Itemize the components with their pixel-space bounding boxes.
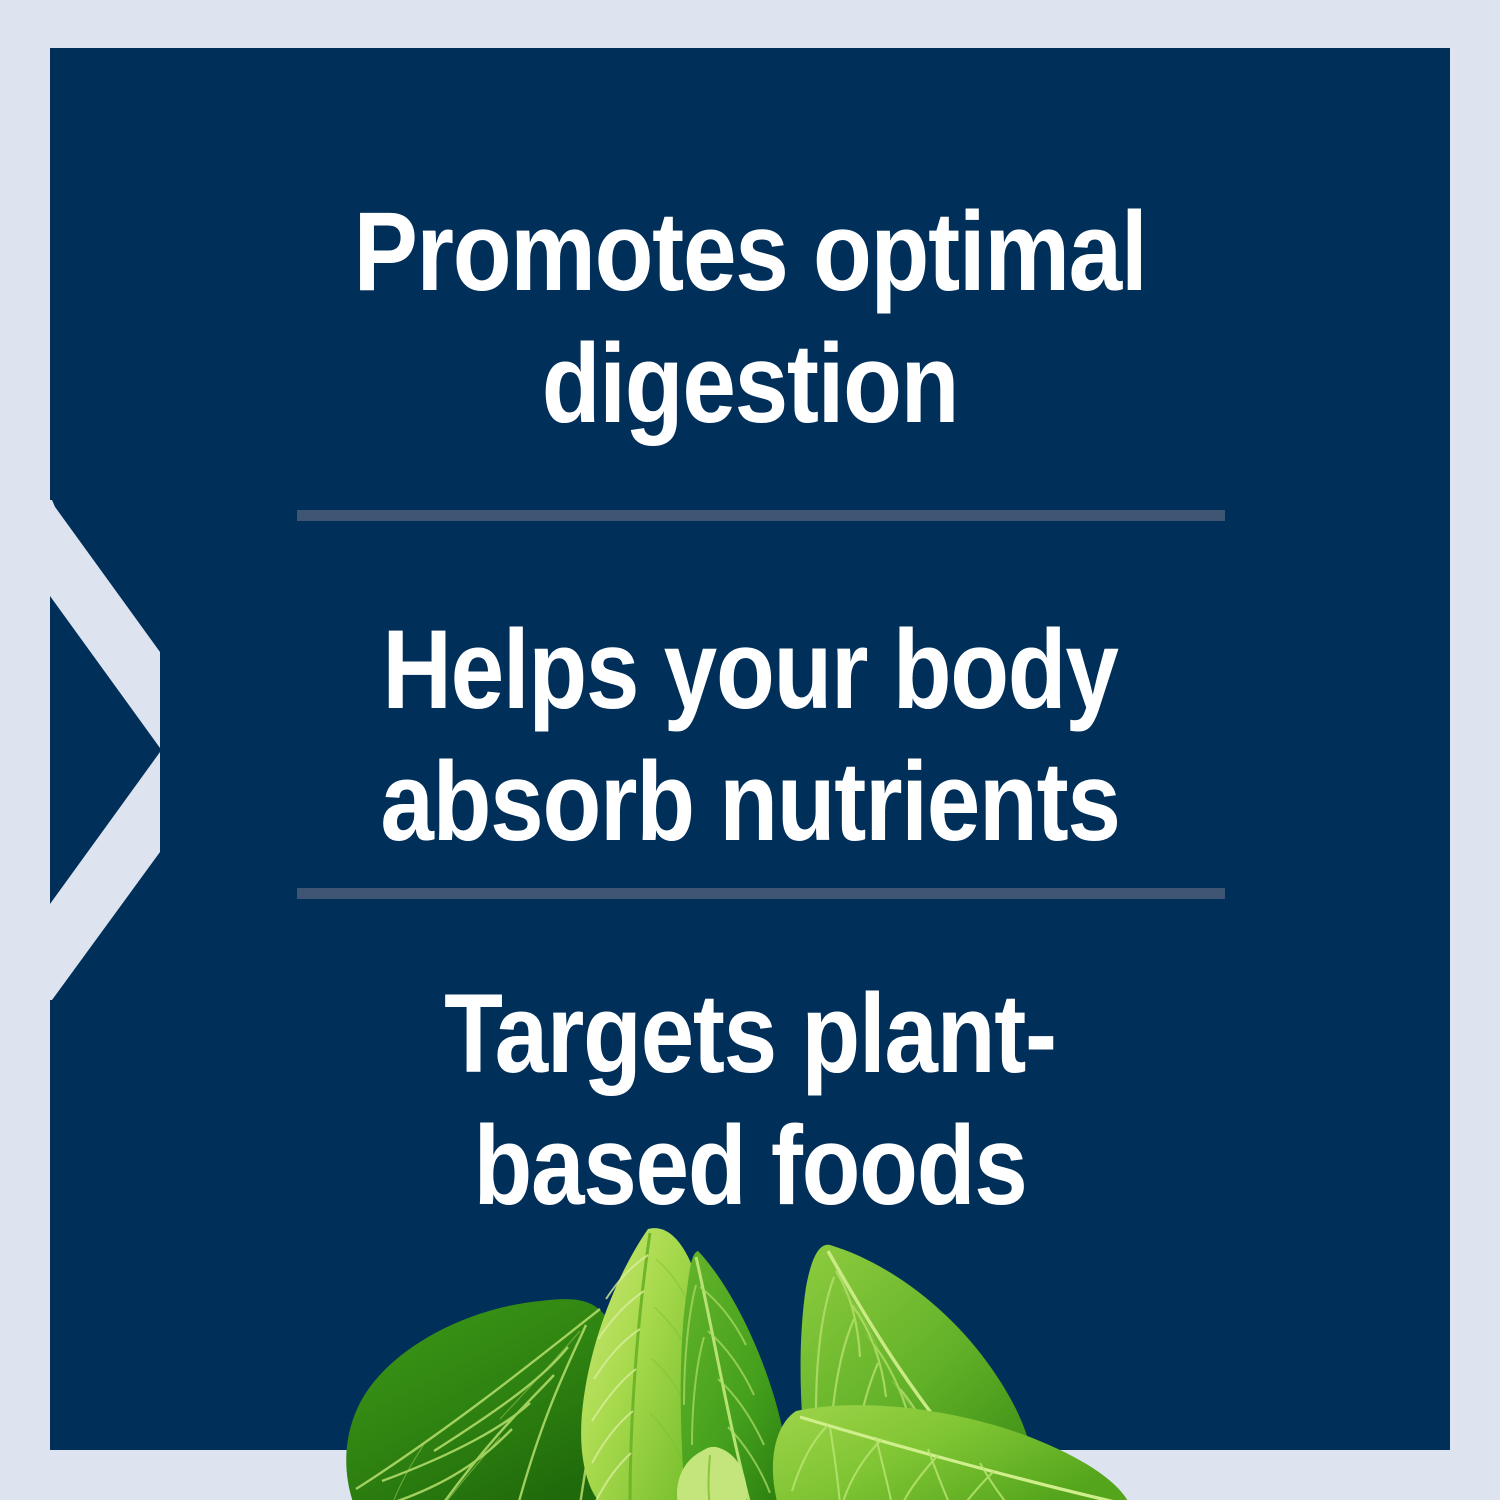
benefit-claim-3: Targets plant- based foods [148,968,1352,1232]
leaf-stem [710,1463,760,1500]
benefit-claim-2: Helps your body absorb nutrients [148,604,1352,868]
leaf-bud [677,1447,747,1500]
benefit-divider-1 [297,510,1225,521]
benefit-list: Promotes optimal digestion Helps your bo… [50,48,1450,1450]
product-benefit-card: Promotes optimal digestion Helps your bo… [0,0,1500,1500]
benefit-claim-1: Promotes optimal digestion [148,186,1352,450]
benefit-divider-2 [297,888,1225,899]
